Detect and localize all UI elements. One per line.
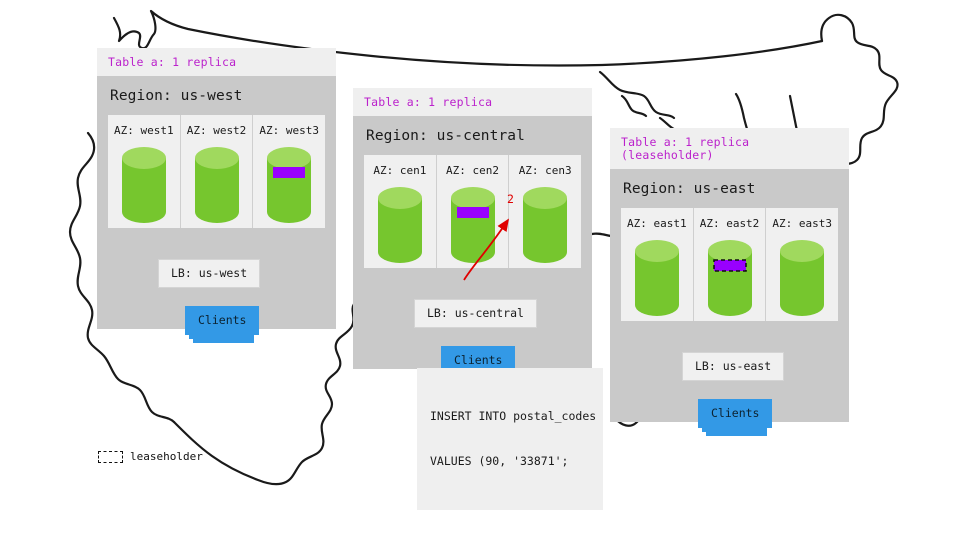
- lb-box-us-west[interactable]: LB: us-west: [158, 259, 260, 288]
- az-cell-west1[interactable]: AZ: west1: [108, 115, 180, 228]
- clients-stack-us-east[interactable]: Clients: [698, 399, 772, 428]
- panel-header-us-west: Table a: 1 replica: [97, 48, 336, 76]
- az-cell-east1[interactable]: AZ: east1: [621, 208, 693, 321]
- replica-bar-west3: [273, 167, 305, 178]
- routing-arrow-central: [440, 190, 550, 290]
- region-panel-us-east: Table a: 1 replica (leaseholder) Region:…: [610, 128, 849, 422]
- az-label-west3: AZ: west3: [259, 124, 319, 137]
- az-cell-west3[interactable]: AZ: west3: [252, 115, 325, 228]
- cylinder-east1: [633, 239, 681, 317]
- az-strip-us-west: AZ: west1 AZ: west2: [108, 115, 325, 228]
- arrow-label-2: 2: [507, 193, 514, 205]
- az-label-west1: AZ: west1: [114, 124, 174, 137]
- az-cell-east3[interactable]: AZ: east3: [765, 208, 838, 321]
- cylinder-cen1: [376, 186, 424, 264]
- region-title-us-east: Region: us-east: [610, 169, 849, 208]
- legend-label: leaseholder: [130, 450, 203, 463]
- sql-line-2: VALUES (90, '33871';: [430, 454, 590, 469]
- az-label-cen1: AZ: cen1: [373, 164, 426, 177]
- cylinder-east3: [778, 239, 826, 317]
- clients-stack-us-west[interactable]: Clients: [185, 306, 259, 335]
- sql-line-1: INSERT INTO postal_codes: [430, 409, 590, 424]
- cylinder-west3: [265, 146, 313, 224]
- az-cell-west2[interactable]: AZ: west2: [180, 115, 253, 228]
- lb-box-us-central[interactable]: LB: us-central: [414, 299, 537, 328]
- az-label-cen2: AZ: cen2: [446, 164, 499, 177]
- az-cell-cen1[interactable]: AZ: cen1: [364, 155, 436, 268]
- panel-header-us-central: Table a: 1 replica: [353, 88, 592, 116]
- region-panel-us-west: Table a: 1 replica Region: us-west AZ: w…: [97, 48, 336, 329]
- az-label-west2: AZ: west2: [187, 124, 247, 137]
- az-strip-us-east: AZ: east1 AZ: east2: [621, 208, 838, 321]
- az-label-east1: AZ: east1: [627, 217, 687, 230]
- az-label-east2: AZ: east2: [700, 217, 760, 230]
- region-title-us-central: Region: us-central: [353, 116, 592, 155]
- dashed-rectangle-icon: [98, 451, 123, 463]
- az-cell-east2[interactable]: AZ: east2: [693, 208, 766, 321]
- lb-box-us-east[interactable]: LB: us-east: [682, 352, 784, 381]
- az-label-cen3: AZ: cen3: [519, 164, 572, 177]
- cylinder-east2: [706, 239, 754, 317]
- region-title-us-west: Region: us-west: [97, 76, 336, 115]
- clients-button-us-west[interactable]: Clients: [185, 306, 259, 335]
- sql-statement-box: INSERT INTO postal_codes VALUES (90, '33…: [417, 368, 603, 510]
- clients-button-us-east[interactable]: Clients: [698, 399, 772, 428]
- replica-bar-east2-leaseholder: [714, 260, 746, 271]
- cylinder-west2: [193, 146, 241, 224]
- diagram-stage: Table a: 1 replica Region: us-west AZ: w…: [0, 0, 960, 540]
- panel-header-us-east: Table a: 1 replica (leaseholder): [610, 128, 849, 169]
- cylinder-west1: [120, 146, 168, 224]
- panel-body-us-west: Region: us-west AZ: west1 AZ: west2: [97, 76, 336, 329]
- panel-body-us-east: Region: us-east AZ: east1 AZ: east2: [610, 169, 849, 422]
- legend: leaseholder: [98, 450, 203, 463]
- az-label-east3: AZ: east3: [772, 217, 832, 230]
